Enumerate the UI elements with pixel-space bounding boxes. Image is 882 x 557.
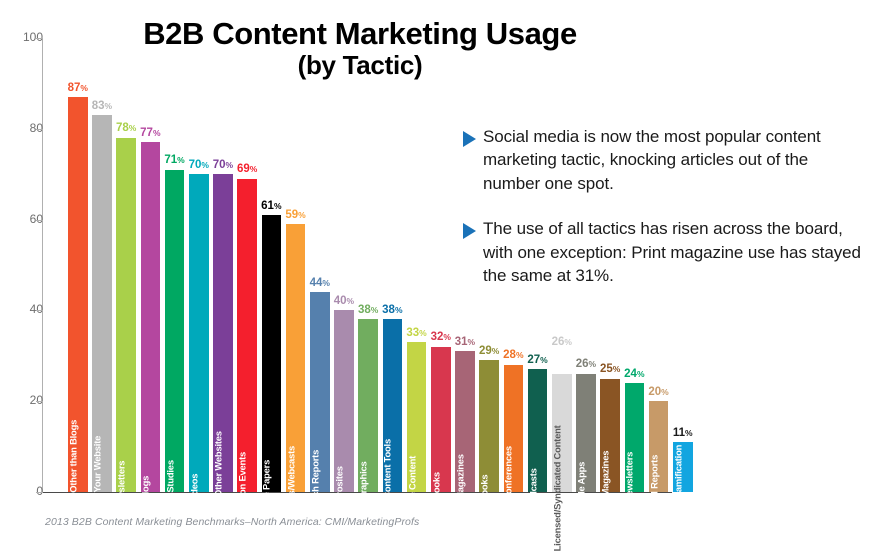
bar[interactable]: Videos bbox=[189, 174, 209, 492]
bar-value-label: 69% bbox=[237, 164, 257, 176]
bar-value-label: 11% bbox=[673, 428, 693, 440]
bar[interactable]: Virtual Conferences bbox=[504, 365, 524, 492]
triangle-right-icon bbox=[463, 125, 483, 195]
bar-group[interactable]: Webinars/Webcasts59% bbox=[286, 38, 306, 492]
bar[interactable]: Webinars/Webcasts bbox=[286, 224, 306, 492]
source-note: 2013 B2B Content Marketing Benchmarks–No… bbox=[45, 516, 419, 528]
bar-category-label: Social Media – Other than Blogs bbox=[68, 419, 77, 556]
bar[interactable]: White Papers bbox=[262, 215, 282, 492]
bar-category-label: Microsites bbox=[335, 466, 344, 510]
bar-category-label: Print Magazines bbox=[456, 454, 465, 522]
bar[interactable]: Digital Magazines bbox=[600, 379, 620, 493]
bar-value-label: 27% bbox=[527, 355, 547, 367]
bar-category-label: Case Studies bbox=[165, 460, 174, 516]
bar-category-label: Games/Gamification bbox=[673, 444, 682, 531]
bar-value-label: 31% bbox=[455, 337, 475, 349]
callout-text: The use of all tactics has risen across … bbox=[483, 217, 863, 287]
bar-group[interactable]: Articles on Your Website83% bbox=[92, 38, 112, 492]
bar-value-label: 83% bbox=[92, 101, 112, 113]
y-tick-label: 80 bbox=[11, 121, 43, 135]
bar-category-label: eNewsletters bbox=[117, 460, 126, 515]
y-tick-mark bbox=[36, 401, 43, 402]
bar-category-label: Articles on Other Websites bbox=[214, 431, 223, 545]
bar-group[interactable]: In-person Events69% bbox=[237, 38, 257, 492]
bar-value-label: 70% bbox=[189, 160, 209, 172]
bar-category-label: eBooks bbox=[431, 472, 440, 505]
y-tick-label: 60 bbox=[11, 212, 43, 226]
y-tick-mark bbox=[36, 310, 43, 311]
bar-group[interactable]: eNewsletters78% bbox=[116, 38, 136, 492]
bar[interactable]: Books bbox=[479, 360, 499, 492]
bar-group[interactable]: Branded Content Tools38% bbox=[383, 38, 403, 492]
bar[interactable]: Microsites bbox=[334, 310, 354, 492]
bar-value-label: 59% bbox=[285, 210, 305, 222]
y-tick-label: 40 bbox=[11, 302, 43, 316]
bar[interactable]: Branded Content Tools bbox=[383, 319, 403, 492]
bar-value-label: 71% bbox=[164, 155, 184, 167]
bar-category-label: Videos bbox=[189, 473, 198, 502]
bar-category-label: Digital Magazines bbox=[601, 450, 610, 525]
y-tick-mark bbox=[36, 492, 43, 493]
infographic-chart: B2B Content Marketing Usage (by Tactic) … bbox=[0, 0, 882, 547]
bar[interactable]: Articles on Other Websites bbox=[213, 174, 233, 492]
bar-value-label: 26% bbox=[552, 337, 572, 349]
bar-value-label: 28% bbox=[503, 350, 523, 362]
bar[interactable]: Games/Gamification bbox=[673, 442, 693, 492]
bar-category-label: Podcasts bbox=[528, 468, 537, 508]
bar-category-label: White Papers bbox=[262, 460, 271, 517]
bar[interactable]: Print Magazines bbox=[455, 351, 475, 492]
bar[interactable]: Infographics bbox=[358, 319, 378, 492]
callout-item: The use of all tactics has risen across … bbox=[463, 217, 863, 287]
y-tick-mark bbox=[36, 129, 43, 130]
bar-category-label: Books bbox=[480, 474, 489, 502]
bar[interactable]: eBooks bbox=[431, 347, 451, 492]
bar[interactable]: Case Studies bbox=[165, 170, 185, 492]
y-tick-mark bbox=[36, 220, 43, 221]
bar-category-label: Print Newsletters bbox=[625, 451, 634, 524]
bar-group[interactable]: Articles on Other Websites70% bbox=[213, 38, 233, 492]
bar-value-label: 25% bbox=[600, 364, 620, 376]
bar-category-label: Research Reports bbox=[310, 449, 319, 526]
bar-value-label: 77% bbox=[140, 128, 160, 140]
bar-group[interactable]: Case Studies71% bbox=[165, 38, 185, 492]
bar-group[interactable]: eBooks32% bbox=[431, 38, 451, 492]
bar-value-label: 40% bbox=[334, 296, 354, 308]
bar[interactable]: Articles on Your Website bbox=[92, 115, 112, 492]
y-tick-label: 20 bbox=[11, 393, 43, 407]
bar[interactable]: eNewsletters bbox=[116, 138, 136, 492]
bar-value-label: 20% bbox=[648, 387, 668, 399]
bar-group[interactable]: Infographics38% bbox=[358, 38, 378, 492]
bar[interactable]: Social Media – Other than Blogs bbox=[68, 97, 88, 492]
callout-text: Social media is now the most popular con… bbox=[483, 125, 863, 195]
bar-value-label: 87% bbox=[68, 83, 88, 95]
bar-value-label: 29% bbox=[479, 346, 499, 358]
bar-value-label: 44% bbox=[310, 278, 330, 290]
bar-category-label: Licensed/Syndicated Content bbox=[552, 425, 561, 551]
bar[interactable]: Licensed/Syndicated Content bbox=[552, 374, 572, 492]
bar-group[interactable]: White Papers61% bbox=[262, 38, 282, 492]
bar[interactable]: Blogs bbox=[141, 142, 161, 492]
bar-category-label: Infographics bbox=[359, 461, 368, 515]
bar-category-label: Mobile Content bbox=[407, 456, 416, 521]
bar[interactable]: Mobile Content bbox=[407, 342, 427, 492]
bar-group[interactable]: Research Reports44% bbox=[310, 38, 330, 492]
bar-category-label: Blogs bbox=[141, 475, 150, 500]
bar-group[interactable]: Mobile Content33% bbox=[407, 38, 427, 492]
callout-list: Social media is now the most popular con… bbox=[463, 125, 863, 310]
bar-value-label: 70% bbox=[213, 160, 233, 172]
bar-value-label: 26% bbox=[576, 359, 596, 371]
bar-value-label: 38% bbox=[382, 305, 402, 317]
bar-value-label: 38% bbox=[358, 305, 378, 317]
bar-value-label: 61% bbox=[261, 201, 281, 213]
bar-value-label: 33% bbox=[406, 328, 426, 340]
y-tick-label: 100 bbox=[11, 30, 43, 44]
bar-category-label: Virtual Conferences bbox=[504, 446, 513, 531]
triangle-right-icon bbox=[463, 217, 483, 287]
bar-group[interactable]: Social Media – Other than Blogs87% bbox=[68, 38, 88, 492]
bar-value-label: 78% bbox=[116, 123, 136, 135]
bar-group[interactable]: Blogs77% bbox=[141, 38, 161, 492]
callout-item: Social media is now the most popular con… bbox=[463, 125, 863, 195]
bar[interactable]: Podcasts bbox=[528, 369, 548, 492]
bar[interactable]: Research Reports bbox=[310, 292, 330, 492]
bar[interactable]: Annual Reports bbox=[649, 401, 669, 492]
bar-group[interactable]: Microsites40% bbox=[334, 38, 354, 492]
bar[interactable]: In-person Events bbox=[237, 179, 257, 492]
y-tick-mark bbox=[36, 38, 43, 39]
bar[interactable]: Print Newsletters bbox=[625, 383, 645, 492]
bar[interactable]: Mobile Apps bbox=[576, 374, 596, 492]
bar-value-label: 24% bbox=[624, 369, 644, 381]
bar-group[interactable]: Videos70% bbox=[189, 38, 209, 492]
bar-category-label: Annual Reports bbox=[649, 455, 658, 522]
y-tick-label: 0 bbox=[11, 484, 43, 498]
bar-category-label: Mobile Apps bbox=[577, 461, 586, 514]
bar-value-label: 32% bbox=[431, 332, 451, 344]
bar-category-label: In-person Events bbox=[238, 452, 247, 525]
